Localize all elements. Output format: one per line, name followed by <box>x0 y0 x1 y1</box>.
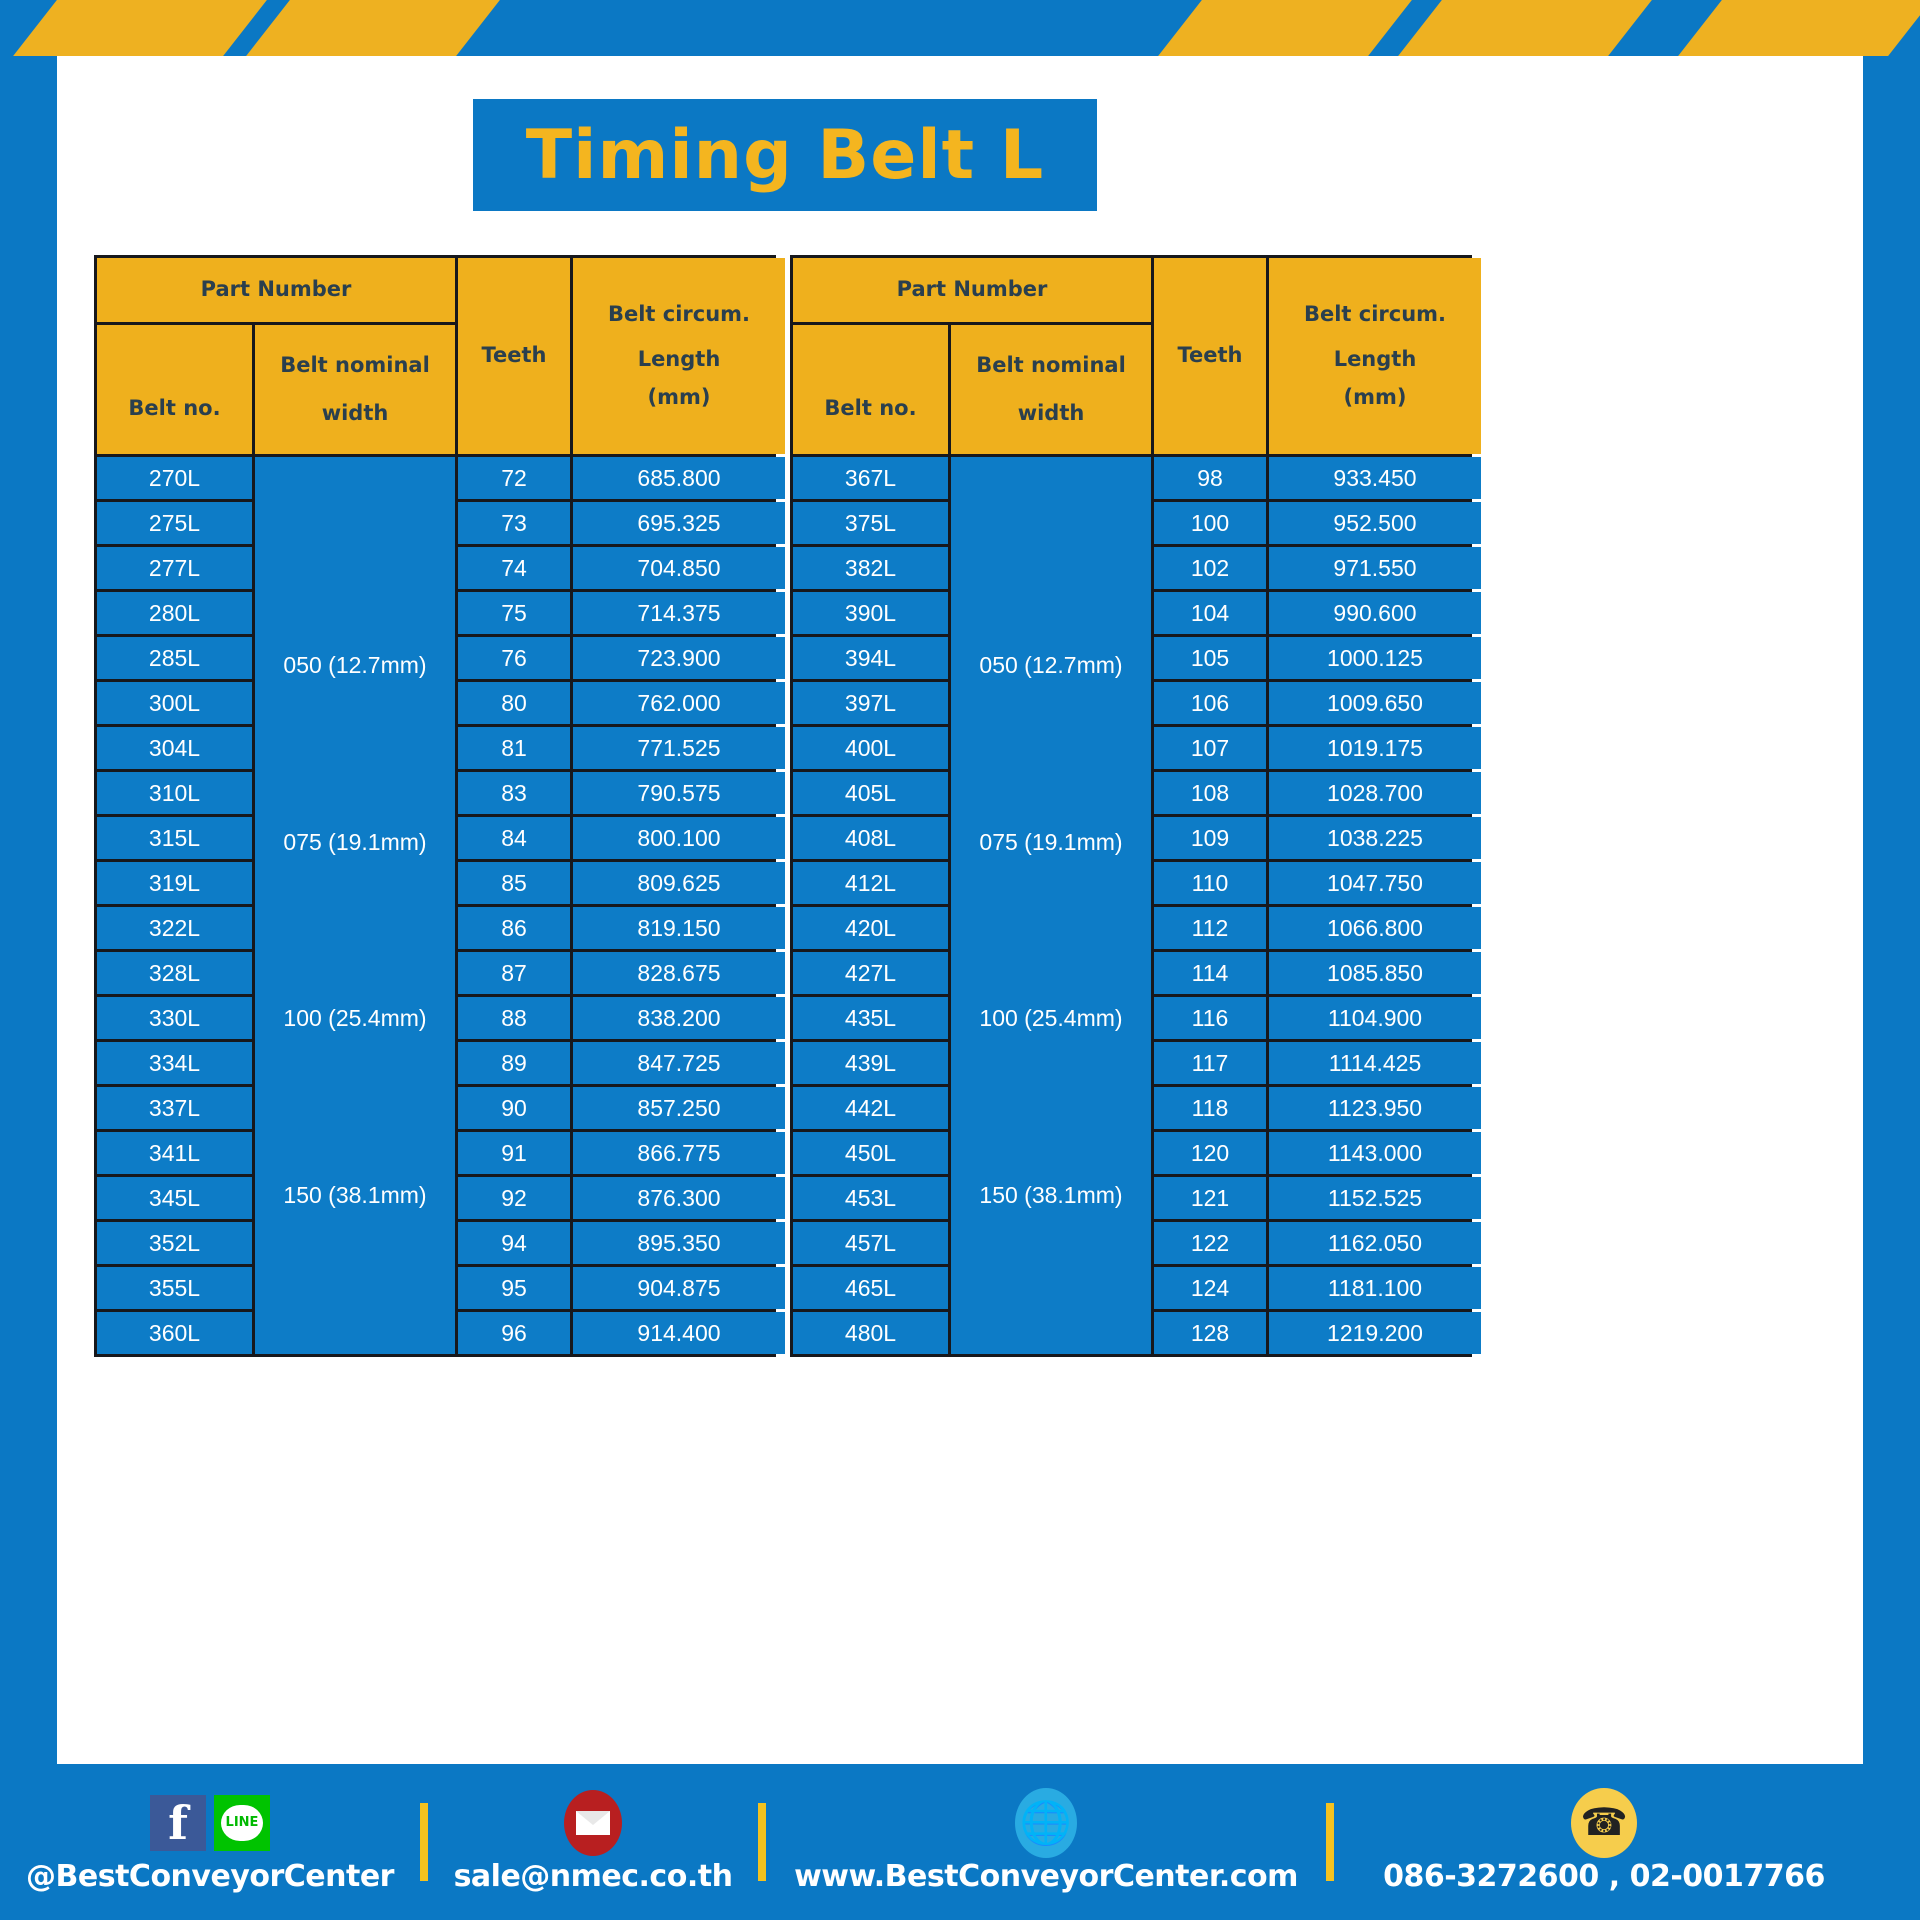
cell-belt-no: 322L <box>97 907 252 949</box>
width-option-1: 075 (19.1mm) <box>283 807 426 878</box>
cell-teeth: 105 <box>1154 637 1266 679</box>
cell-teeth: 91 <box>458 1132 570 1174</box>
cell-length: 1152.525 <box>1269 1177 1481 1219</box>
header-width-line1: Belt nominal <box>951 350 1151 382</box>
deco-stripe <box>1393 0 1656 56</box>
cell-belt-no: 450L <box>793 1132 948 1174</box>
deco-stripe <box>1153 0 1416 56</box>
social-icons: f LINE <box>150 1791 270 1855</box>
cell-teeth: 80 <box>458 682 570 724</box>
cell-belt-no: 341L <box>97 1132 252 1174</box>
footer-divider <box>758 1803 766 1881</box>
cell-length: 714.375 <box>573 592 785 634</box>
cell-teeth: 98 <box>1154 457 1266 499</box>
cell-length: 914.400 <box>573 1312 785 1354</box>
cell-teeth: 104 <box>1154 592 1266 634</box>
cell-teeth: 122 <box>1154 1222 1266 1264</box>
phone-icons: ☎ <box>1571 1791 1637 1855</box>
cell-belt-no: 270L <box>97 457 252 499</box>
header-belt-circum: Belt circum. Length (mm) <box>1269 258 1481 454</box>
cell-teeth: 100 <box>1154 502 1266 544</box>
email-label: sale@nmec.co.th <box>454 1859 733 1894</box>
cell-teeth: 87 <box>458 952 570 994</box>
cell-length: 1019.175 <box>1269 727 1481 769</box>
cell-teeth: 94 <box>458 1222 570 1264</box>
cell-teeth: 72 <box>458 457 570 499</box>
header-belt-nominal-width: Belt nominal width <box>951 325 1151 454</box>
width-option-2: 100 (25.4mm) <box>979 983 1122 1054</box>
timing-belt-table-right: Part Number Teeth Belt circum. Length (m… <box>790 255 1472 1357</box>
website-icons: 🌐 <box>1015 1791 1077 1855</box>
cell-belt-no: 394L <box>793 637 948 679</box>
width-option-2: 100 (25.4mm) <box>283 983 426 1054</box>
cell-belt-no: 439L <box>793 1042 948 1084</box>
cell-length: 1000.125 <box>1269 637 1481 679</box>
cell-teeth: 75 <box>458 592 570 634</box>
cell-belt-no: 352L <box>97 1222 252 1264</box>
cell-length: 819.150 <box>573 907 785 949</box>
cell-belt-no: 275L <box>97 502 252 544</box>
header-belt-circum: Belt circum. Length (mm) <box>573 258 785 454</box>
cell-teeth: 96 <box>458 1312 570 1354</box>
header-belt-circum-line1: Belt circum. <box>1269 299 1481 331</box>
cell-length: 1123.950 <box>1269 1087 1481 1129</box>
cell-belt-no: 367L <box>793 457 948 499</box>
width-option-3: 150 (38.1mm) <box>979 1160 1122 1231</box>
cell-length: 1047.750 <box>1269 862 1481 904</box>
deco-stripe <box>1673 0 1920 56</box>
cell-length: 876.300 <box>573 1177 785 1219</box>
cell-belt-nominal-width: 050 (12.7mm)075 (19.1mm)100 (25.4mm)150 … <box>951 457 1151 1354</box>
table-header: Part Number Teeth Belt circum. Length (m… <box>793 258 1481 454</box>
footer-website-group[interactable]: 🌐 www.BestConveyorCenter.com <box>766 1791 1326 1894</box>
cell-length: 790.575 <box>573 772 785 814</box>
cell-belt-no: 390L <box>793 592 948 634</box>
cell-length: 1114.425 <box>1269 1042 1481 1084</box>
cell-teeth: 124 <box>1154 1267 1266 1309</box>
header-row-top: Part Number Teeth Belt circum. Length (m… <box>97 258 785 322</box>
header-part-number: Part Number <box>793 258 1151 322</box>
cell-teeth: 83 <box>458 772 570 814</box>
line-icon-text: LINE <box>221 1805 263 1841</box>
cell-belt-no: 300L <box>97 682 252 724</box>
table-body-left: 270L050 (12.7mm)075 (19.1mm)100 (25.4mm)… <box>97 457 785 1354</box>
cell-teeth: 92 <box>458 1177 570 1219</box>
cell-teeth: 128 <box>1154 1312 1266 1354</box>
cell-belt-nominal-width: 050 (12.7mm)075 (19.1mm)100 (25.4mm)150 … <box>255 457 455 1354</box>
cell-length: 990.600 <box>1269 592 1481 634</box>
cell-belt-no: 400L <box>793 727 948 769</box>
footer-phone-group[interactable]: ☎ 086-3272600 , 02-0017766 <box>1334 1791 1874 1894</box>
header-belt-no: Belt no. <box>793 325 948 454</box>
cell-teeth: 95 <box>458 1267 570 1309</box>
cell-belt-no: 285L <box>97 637 252 679</box>
globe-icon[interactable]: 🌐 <box>1015 1788 1077 1858</box>
cell-teeth: 118 <box>1154 1087 1266 1129</box>
width-option-0: 050 (12.7mm) <box>979 630 1122 701</box>
cell-length: 866.775 <box>573 1132 785 1174</box>
cell-belt-no: 310L <box>97 772 252 814</box>
cell-teeth: 109 <box>1154 817 1266 859</box>
cell-length: 1009.650 <box>1269 682 1481 724</box>
header-width-line2: width <box>951 398 1151 430</box>
cell-belt-no: 330L <box>97 997 252 1039</box>
cell-length: 685.800 <box>573 457 785 499</box>
cell-teeth: 85 <box>458 862 570 904</box>
cell-length: 771.525 <box>573 727 785 769</box>
cell-length: 971.550 <box>1269 547 1481 589</box>
cell-belt-no: 360L <box>97 1312 252 1354</box>
website-label: www.BestConveyorCenter.com <box>794 1859 1298 1894</box>
cell-teeth: 112 <box>1154 907 1266 949</box>
page-title-text: Timing Belt L <box>526 116 1044 195</box>
cell-length: 1219.200 <box>1269 1312 1481 1354</box>
timing-belt-table-left: Part Number Teeth Belt circum. Length (m… <box>94 255 776 1357</box>
header-belt-nominal-width: Belt nominal width <box>255 325 455 454</box>
page-title: Timing Belt L <box>473 99 1097 211</box>
footer-social-group[interactable]: f LINE @BestConveyorCenter <box>0 1791 420 1894</box>
cell-length: 838.200 <box>573 997 785 1039</box>
cell-belt-no: 420L <box>793 907 948 949</box>
cell-belt-no: 355L <box>97 1267 252 1309</box>
cell-length: 1143.000 <box>1269 1132 1481 1174</box>
header-mm-line: (mm) <box>573 382 785 414</box>
cell-length: 695.325 <box>573 502 785 544</box>
cell-length: 857.250 <box>573 1087 785 1129</box>
cell-belt-no: 397L <box>793 682 948 724</box>
cell-belt-no: 345L <box>97 1177 252 1219</box>
facebook-icon[interactable]: f <box>150 1795 206 1851</box>
email-icon[interactable] <box>564 1790 622 1856</box>
cell-length: 809.625 <box>573 862 785 904</box>
deco-stripe <box>241 0 504 56</box>
cell-teeth: 117 <box>1154 1042 1266 1084</box>
cell-length: 847.725 <box>573 1042 785 1084</box>
phone-icon[interactable]: ☎ <box>1571 1788 1637 1858</box>
top-decoration-bar <box>0 0 1920 56</box>
cell-length: 1162.050 <box>1269 1222 1481 1264</box>
cell-teeth: 84 <box>458 817 570 859</box>
cell-length: 1181.100 <box>1269 1267 1481 1309</box>
table-body-right: 367L050 (12.7mm)075 (19.1mm)100 (25.4mm)… <box>793 457 1481 1354</box>
cell-belt-no: 328L <box>97 952 252 994</box>
cell-teeth: 114 <box>1154 952 1266 994</box>
cell-length: 904.875 <box>573 1267 785 1309</box>
header-belt-no-text: Belt no. <box>793 393 948 425</box>
header-row-top: Part Number Teeth Belt circum. Length (m… <box>793 258 1481 322</box>
cell-teeth: 108 <box>1154 772 1266 814</box>
cell-teeth: 74 <box>458 547 570 589</box>
cell-length: 1085.850 <box>1269 952 1481 994</box>
cell-belt-no: 480L <box>793 1312 948 1354</box>
header-teeth: Teeth <box>1154 258 1266 454</box>
header-belt-no-text: Belt no. <box>97 393 252 425</box>
cell-length: 723.900 <box>573 637 785 679</box>
cell-belt-no: 408L <box>793 817 948 859</box>
cell-teeth: 107 <box>1154 727 1266 769</box>
cell-teeth: 81 <box>458 727 570 769</box>
cell-belt-no: 457L <box>793 1222 948 1264</box>
cell-length: 762.000 <box>573 682 785 724</box>
cell-belt-no: 319L <box>97 862 252 904</box>
table-header: Part Number Teeth Belt circum. Length (m… <box>97 258 785 454</box>
cell-teeth: 121 <box>1154 1177 1266 1219</box>
cell-teeth: 106 <box>1154 682 1266 724</box>
cell-belt-no: 427L <box>793 952 948 994</box>
cell-belt-no: 315L <box>97 817 252 859</box>
width-option-0: 050 (12.7mm) <box>283 630 426 701</box>
cell-length: 704.850 <box>573 547 785 589</box>
cell-teeth: 102 <box>1154 547 1266 589</box>
line-icon[interactable]: LINE <box>214 1795 270 1851</box>
cell-teeth: 86 <box>458 907 570 949</box>
cell-belt-no: 435L <box>793 997 948 1039</box>
footer-divider <box>1326 1803 1334 1881</box>
cell-teeth: 120 <box>1154 1132 1266 1174</box>
cell-length: 1066.800 <box>1269 907 1481 949</box>
header-part-number: Part Number <box>97 258 455 322</box>
cell-belt-no: 382L <box>793 547 948 589</box>
footer-divider <box>420 1803 428 1881</box>
contact-footer: f LINE @BestConveyorCenter sale@nmec.co.… <box>0 1764 1920 1920</box>
cell-length: 800.100 <box>573 817 785 859</box>
header-length-line: Length <box>573 344 785 376</box>
cell-belt-no: 453L <box>793 1177 948 1219</box>
cell-belt-no: 304L <box>97 727 252 769</box>
table-row: 367L050 (12.7mm)075 (19.1mm)100 (25.4mm)… <box>793 457 1481 499</box>
cell-length: 933.450 <box>1269 457 1481 499</box>
footer-email-group[interactable]: sale@nmec.co.th <box>428 1791 758 1894</box>
width-option-1: 075 (19.1mm) <box>979 807 1122 878</box>
deco-stripe <box>8 0 271 56</box>
cell-teeth: 89 <box>458 1042 570 1084</box>
cell-belt-no: 334L <box>97 1042 252 1084</box>
table-row: 270L050 (12.7mm)075 (19.1mm)100 (25.4mm)… <box>97 457 785 499</box>
cell-belt-no: 442L <box>793 1087 948 1129</box>
cell-teeth: 110 <box>1154 862 1266 904</box>
cell-teeth: 90 <box>458 1087 570 1129</box>
phone-label: 086-3272600 , 02-0017766 <box>1383 1859 1825 1894</box>
header-belt-circum-line1: Belt circum. <box>573 299 785 331</box>
cell-belt-no: 412L <box>793 862 948 904</box>
header-belt-no: Belt no. <box>97 325 252 454</box>
header-mm-line: (mm) <box>1269 382 1481 414</box>
social-handle-label: @BestConveyorCenter <box>26 1859 394 1894</box>
email-icons <box>564 1791 622 1855</box>
cell-belt-no: 375L <box>793 502 948 544</box>
cell-teeth: 76 <box>458 637 570 679</box>
header-length-line: Length <box>1269 344 1481 376</box>
cell-teeth: 73 <box>458 502 570 544</box>
belt-table: Part Number Teeth Belt circum. Length (m… <box>790 255 1484 1357</box>
cell-length: 1028.700 <box>1269 772 1481 814</box>
cell-length: 952.500 <box>1269 502 1481 544</box>
cell-length: 1104.900 <box>1269 997 1481 1039</box>
cell-length: 828.675 <box>573 952 785 994</box>
width-option-3: 150 (38.1mm) <box>283 1160 426 1231</box>
header-teeth: Teeth <box>458 258 570 454</box>
cell-belt-no: 465L <box>793 1267 948 1309</box>
belt-table: Part Number Teeth Belt circum. Length (m… <box>94 255 788 1357</box>
cell-teeth: 116 <box>1154 997 1266 1039</box>
cell-belt-no: 277L <box>97 547 252 589</box>
cell-belt-no: 337L <box>97 1087 252 1129</box>
cell-teeth: 88 <box>458 997 570 1039</box>
header-width-line1: Belt nominal <box>255 350 455 382</box>
cell-belt-no: 280L <box>97 592 252 634</box>
cell-length: 1038.225 <box>1269 817 1481 859</box>
cell-belt-no: 405L <box>793 772 948 814</box>
header-width-line2: width <box>255 398 455 430</box>
cell-length: 895.350 <box>573 1222 785 1264</box>
